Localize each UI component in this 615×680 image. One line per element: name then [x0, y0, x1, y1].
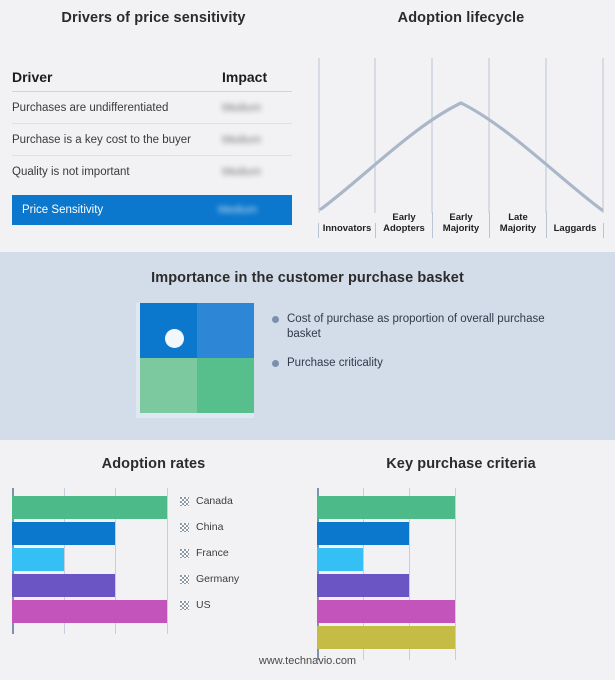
drivers-rows: Purchases are undifferentiatedMediumPurc… — [12, 92, 292, 225]
legend-label: US — [196, 599, 211, 611]
key-purchase-criteria-panel: Key purchase criteria InnovationPriceQua… — [307, 440, 615, 680]
bar-regulatory-compliance — [317, 600, 455, 623]
bar-row — [317, 574, 455, 597]
basket-title: Importance in the customer purchase bask… — [0, 270, 615, 286]
basket-legend-item: Cost of purchase as proportion of overal… — [272, 312, 562, 342]
bar-germany — [12, 574, 115, 597]
driver-impact: Medium — [218, 204, 288, 216]
bar-row — [12, 548, 167, 571]
quadrant-cell — [197, 358, 254, 413]
bar-china — [12, 522, 115, 545]
lifecycle-chart — [318, 58, 604, 213]
legend-label: France — [196, 547, 229, 559]
quadrant-marker-dot — [165, 329, 184, 348]
legend-item: Canada — [180, 488, 239, 514]
legend-item: US — [180, 592, 239, 618]
lifecycle-stage-label: Laggards — [547, 223, 604, 238]
quadrant-cell — [140, 358, 197, 413]
bar-quality — [317, 548, 363, 571]
lifecycle-stage-label: LateMajority — [490, 212, 547, 238]
column-header-driver: Driver — [12, 69, 222, 85]
bar-row — [12, 522, 167, 545]
driver-row: Quality is not importantMedium — [12, 156, 292, 188]
adoption-rates-title: Adoption rates — [0, 456, 307, 472]
driver-name: Price Sensitivity — [22, 204, 218, 216]
legend-swatch-icon — [180, 601, 189, 610]
key-purchase-criteria-title: Key purchase criteria — [307, 456, 615, 472]
driver-row: Purchase is a key cost to the buyerMediu… — [12, 124, 292, 156]
driver-name: Purchases are undifferentiated — [12, 102, 222, 114]
quadrant-chart — [136, 303, 254, 418]
key-purchase-criteria-plot — [317, 488, 455, 660]
bar-service — [317, 626, 455, 649]
driver-impact: Medium — [222, 166, 292, 178]
legend-swatch-icon — [180, 497, 189, 506]
drivers-table: Driver Impact Purchases are undifferenti… — [12, 62, 292, 225]
lifecycle-stage-label: Innovators — [318, 223, 376, 238]
lifecycle-panel: Adoption lifecycle InnovatorsEarlyAdopte… — [307, 0, 615, 252]
drivers-title: Drivers of price sensitivity — [0, 10, 307, 26]
driver-name: Purchase is a key cost to the buyer — [12, 134, 222, 146]
legend-label: Canada — [196, 495, 233, 507]
bar-row — [317, 600, 455, 623]
footer-url: www.technavio.com — [0, 655, 615, 667]
legend-swatch-icon — [180, 575, 189, 584]
legend-label: China — [196, 521, 223, 533]
lifecycle-stage-label: EarlyAdopters — [376, 212, 433, 238]
lifecycle-stage-label: EarlyMajority — [433, 212, 490, 238]
basket-legend: Cost of purchase as proportion of overal… — [272, 312, 562, 385]
adoption-rates-legend: CanadaChinaFranceGermanyUS — [180, 488, 239, 618]
impact-value-redacted: Medium — [222, 166, 261, 178]
lifecycle-stage-labels: InnovatorsEarlyAdoptersEarlyMajorityLate… — [318, 196, 604, 238]
gridline — [455, 488, 456, 660]
quadrant-cells — [140, 303, 254, 413]
basket-legend-item: Purchase criticality — [272, 356, 562, 371]
drivers-panel: Drivers of price sensitivity Driver Impa… — [0, 0, 307, 252]
legend-swatch-icon — [180, 523, 189, 532]
bar-row — [317, 548, 455, 571]
bar-relatability — [317, 574, 409, 597]
bar-row — [317, 626, 455, 649]
quadrant-cell — [197, 303, 254, 358]
bar-row — [12, 600, 167, 623]
basket-legend-label: Cost of purchase as proportion of overal… — [287, 312, 562, 342]
driver-row: Purchases are undifferentiatedMedium — [12, 92, 292, 124]
bar-row — [317, 522, 455, 545]
impact-value-redacted: Medium — [222, 134, 261, 146]
basket-legend-label: Purchase criticality — [287, 356, 383, 371]
legend-item: Germany — [180, 566, 239, 592]
bullet-icon — [272, 316, 279, 323]
driver-name: Quality is not important — [12, 166, 222, 178]
column-header-impact: Impact — [222, 69, 292, 85]
lifecycle-title: Adoption lifecycle — [307, 10, 615, 26]
driver-row-highlighted: Price SensitivityMedium — [12, 195, 292, 225]
lifecycle-gridlines — [319, 58, 603, 213]
legend-label: Germany — [196, 573, 239, 585]
bar-france — [12, 548, 64, 571]
gridline — [167, 488, 168, 634]
impact-value-redacted: Medium — [222, 102, 261, 114]
adoption-rates-plot — [12, 488, 167, 634]
bar-row — [12, 496, 167, 519]
legend-item: France — [180, 540, 239, 566]
adoption-bell-curve — [321, 103, 602, 210]
bar-row — [12, 574, 167, 597]
bar-price — [317, 522, 409, 545]
bar-canada — [12, 496, 167, 519]
impact-value-redacted: Medium — [218, 204, 257, 216]
driver-impact: Medium — [222, 134, 292, 146]
lifecycle-curve-svg — [318, 58, 604, 213]
table-header-row: Driver Impact — [12, 62, 292, 92]
bar-row — [317, 496, 455, 519]
bullet-icon — [272, 360, 279, 367]
legend-item: China — [180, 514, 239, 540]
bar-us — [12, 600, 167, 623]
bar-innovation — [317, 496, 455, 519]
adoption-rates-panel: Adoption rates CanadaChinaFranceGermanyU… — [0, 440, 307, 680]
legend-swatch-icon — [180, 549, 189, 558]
driver-impact: Medium — [222, 102, 292, 114]
